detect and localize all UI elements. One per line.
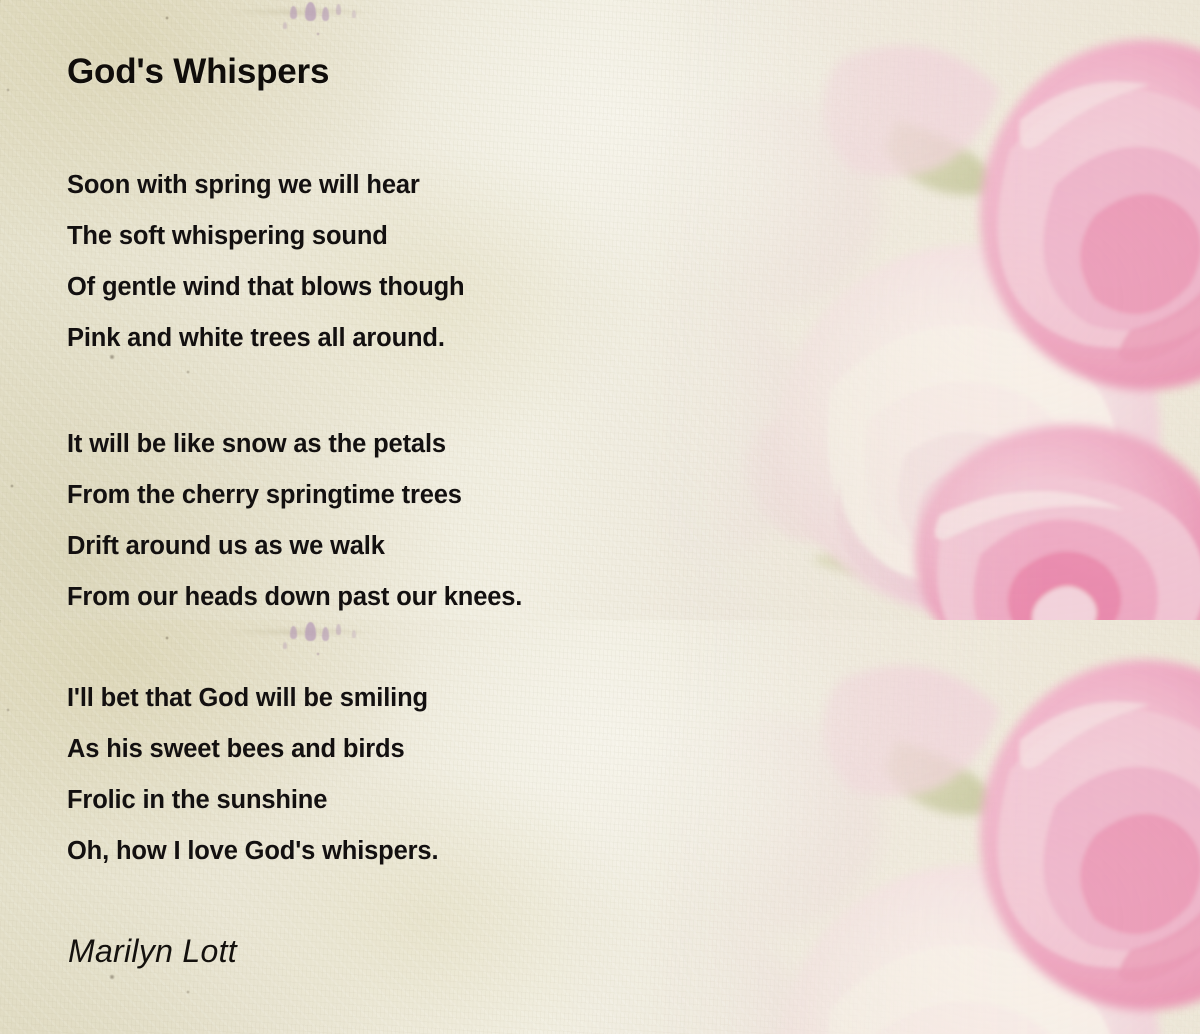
poem-line: It will be like snow as the petals bbox=[67, 419, 522, 470]
poem-line: Soon with spring we will hear bbox=[67, 160, 465, 211]
poem-stanza-1: Soon with spring we will hear The soft w… bbox=[67, 160, 465, 364]
poem-line: Pink and white trees all around. bbox=[67, 313, 465, 364]
poem-title: God's Whispers bbox=[67, 52, 329, 92]
poem-image-card: God's Whispers Soon with spring we will … bbox=[0, 0, 1200, 1034]
poem-author-signature: Marilyn Lott bbox=[68, 933, 237, 970]
poem-line: Frolic in the sunshine bbox=[67, 775, 438, 826]
poem-line: Of gentle wind that blows though bbox=[67, 262, 465, 313]
poem-stanza-2: It will be like snow as the petals From … bbox=[67, 419, 522, 623]
poem-line: From the cherry springtime trees bbox=[67, 470, 522, 521]
poem-line: Drift around us as we walk bbox=[67, 521, 522, 572]
poem-line: I'll bet that God will be smiling bbox=[67, 673, 438, 724]
poem-stanza-3: I'll bet that God will be smiling As his… bbox=[67, 673, 438, 877]
poem-line: Oh, how I love God's whispers. bbox=[67, 826, 438, 877]
poem-line: As his sweet bees and birds bbox=[67, 724, 438, 775]
poem-line: The soft whispering sound bbox=[67, 211, 465, 262]
poem-line: From our heads down past our knees. bbox=[67, 572, 522, 623]
poem-text-layer: God's Whispers Soon with spring we will … bbox=[0, 0, 1200, 1034]
